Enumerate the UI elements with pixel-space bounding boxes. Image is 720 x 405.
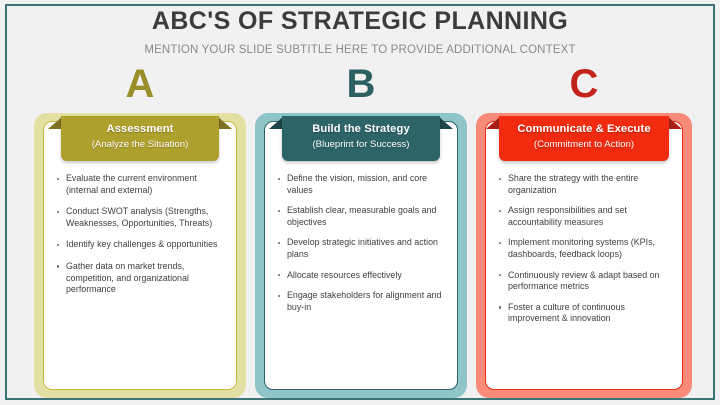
column-c-ribbon-band: Communicate & Execute (Commitment to Act… bbox=[499, 116, 669, 161]
column-b-letter: B bbox=[255, 64, 467, 104]
columns-container: A Assessment (Analyze the Situation) Eva… bbox=[0, 68, 720, 398]
column-b-bullets: Define the vision, mission, and core val… bbox=[264, 173, 458, 322]
list-item: Continuously review & adapt based on per… bbox=[497, 270, 671, 293]
list-item: Share the strategy with the entire organ… bbox=[497, 173, 671, 196]
list-item: Implement monitoring systems (KPIs, dash… bbox=[497, 237, 671, 260]
column-a-ribbon-band: Assessment (Analyze the Situation) bbox=[61, 116, 219, 161]
list-item: Evaluate the current environment (intern… bbox=[55, 173, 225, 196]
column-a-ribbon: Assessment (Analyze the Situation) bbox=[34, 116, 246, 168]
list-item: Conduct SWOT analysis (Strengths, Weakne… bbox=[55, 206, 225, 229]
column-c-ribbon: Communicate & Execute (Commitment to Act… bbox=[476, 116, 692, 168]
column-c-letter: C bbox=[476, 64, 692, 104]
column-a[interactable]: A Assessment (Analyze the Situation) Eva… bbox=[34, 68, 246, 398]
column-b-subtitle: (Blueprint for Success) bbox=[282, 138, 440, 151]
column-b-ribbon: Build the Strategy (Blueprint for Succes… bbox=[255, 116, 467, 168]
column-b[interactable]: B Build the Strategy (Blueprint for Succ… bbox=[255, 68, 467, 398]
ribbon-fold-right-icon bbox=[438, 116, 453, 129]
page-title: ABC'S OF STRATEGIC PLANNING bbox=[0, 8, 720, 36]
column-c-bullets: Share the strategy with the entire organ… bbox=[485, 173, 683, 334]
column-c-subtitle: (Commitment to Action) bbox=[499, 138, 669, 151]
list-item: Foster a culture of continuous improveme… bbox=[497, 302, 671, 325]
column-a-subtitle: (Analyze the Situation) bbox=[61, 138, 219, 151]
column-a-title: Assessment bbox=[61, 122, 219, 136]
slide-canvas: ABC'S OF STRATEGIC PLANNING MENTION YOUR… bbox=[0, 0, 720, 405]
list-item: Allocate resources effectively bbox=[276, 270, 446, 282]
slide-header: ABC'S OF STRATEGIC PLANNING MENTION YOUR… bbox=[0, 8, 720, 56]
column-a-letter: A bbox=[34, 64, 246, 104]
column-b-title: Build the Strategy bbox=[282, 122, 440, 136]
page-subtitle: MENTION YOUR SLIDE SUBTITLE HERE TO PROV… bbox=[0, 44, 720, 56]
list-item: Define the vision, mission, and core val… bbox=[276, 173, 446, 196]
column-c-title: Communicate & Execute bbox=[499, 122, 669, 136]
column-a-bullets: Evaluate the current environment (intern… bbox=[43, 173, 237, 306]
ribbon-fold-right-icon bbox=[667, 116, 682, 129]
column-b-ribbon-band: Build the Strategy (Blueprint for Succes… bbox=[282, 116, 440, 161]
ribbon-fold-right-icon bbox=[217, 116, 232, 129]
list-item: Assign responsibilities and set accounta… bbox=[497, 205, 671, 228]
list-item: Engage stakeholders for alignment and bu… bbox=[276, 290, 446, 313]
list-item: Identify key challenges & opportunities bbox=[55, 239, 225, 251]
column-c[interactable]: C Communicate & Execute (Commitment to A… bbox=[476, 68, 688, 398]
list-item: Develop strategic initiatives and action… bbox=[276, 237, 446, 260]
list-item: Establish clear, measurable goals and ob… bbox=[276, 205, 446, 228]
list-item: Gather data on market trends, competitio… bbox=[55, 261, 225, 296]
